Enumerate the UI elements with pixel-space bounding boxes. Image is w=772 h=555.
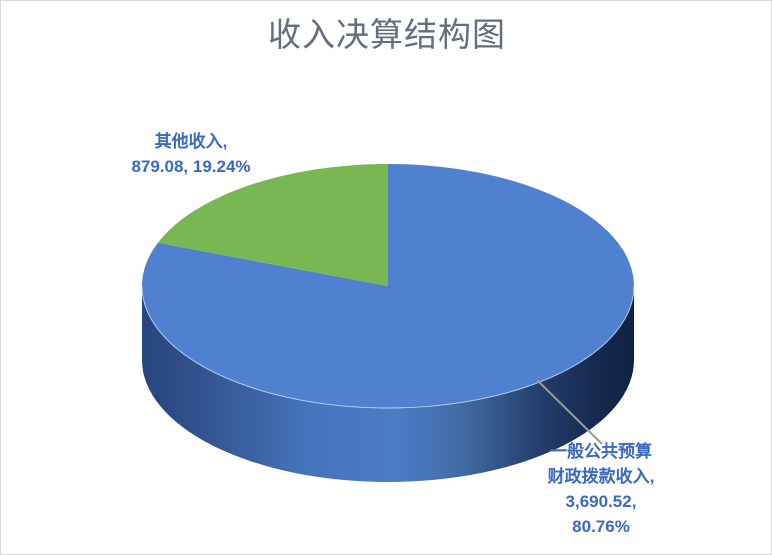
data-label-general-public-budget[interactable]: 一般公共预算 财政拨款收入, 3,690.52, 80.76% (501, 439, 701, 539)
data-label-other-income[interactable]: 其他收入, 879.08, 19.24% (103, 129, 279, 179)
data-label-other-income-line1: 其他收入, (103, 129, 279, 154)
chart-container: 收入决算结构图 (0, 0, 772, 555)
data-label-other-income-line2: 879.08, 19.24% (103, 154, 279, 179)
data-label-general-public-budget-line2: 财政拨款收入, (501, 464, 701, 489)
data-label-general-public-budget-line1: 一般公共预算 (501, 439, 701, 464)
pie-top-face (142, 164, 634, 408)
data-label-general-public-budget-line3: 3,690.52, (501, 489, 701, 514)
data-label-general-public-budget-line4: 80.76% (501, 514, 701, 539)
